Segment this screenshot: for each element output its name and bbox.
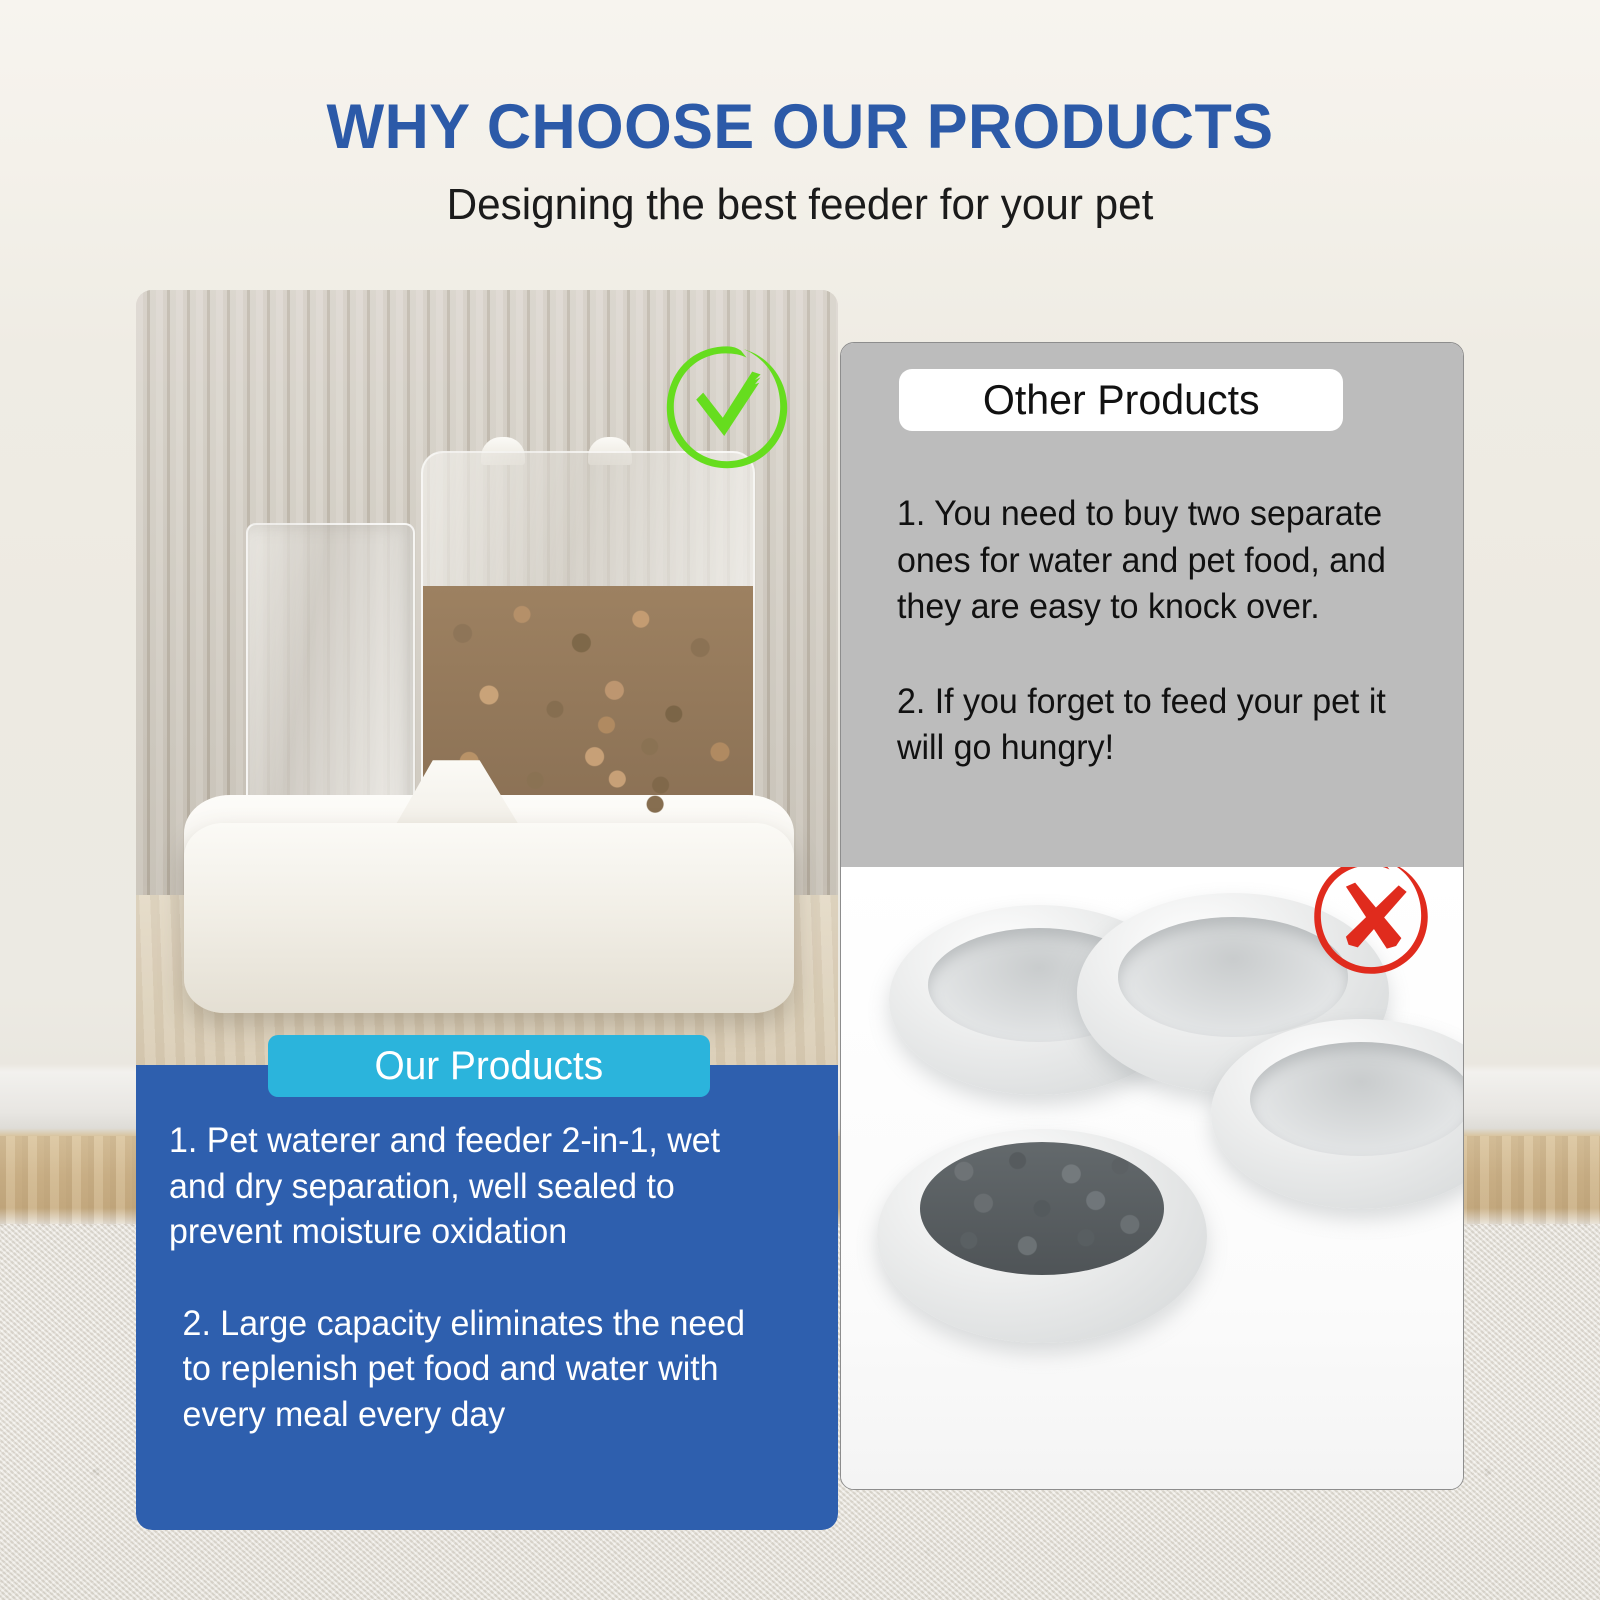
feeder-water-bottle	[246, 523, 415, 817]
other-products-bullet-2: 2. If you forget to feed your pet it wil…	[897, 679, 1429, 772]
our-products-badge: Our Products	[268, 1035, 710, 1097]
other-products-badge: Other Products	[899, 369, 1343, 431]
other-products-card: Other Products 1. You need to buy two se…	[840, 342, 1464, 1490]
our-product-photo	[136, 290, 838, 1065]
other-products-badge-label: Other Products	[983, 379, 1260, 421]
our-products-badge-label: Our Products	[375, 1046, 604, 1086]
gray-kibble-fill	[920, 1142, 1164, 1275]
feeder-base	[184, 823, 794, 1013]
other-product-photo	[841, 867, 1463, 1489]
green-check-circle-icon	[657, 338, 797, 478]
our-products-bullet-1: 1. Pet waterer and feeder 2-in-1, wet an…	[169, 1118, 778, 1255]
other-products-text-panel: Other Products 1. You need to buy two se…	[841, 343, 1463, 867]
our-products-bullets: 1. Pet waterer and feeder 2-in-1, wet an…	[136, 1118, 817, 1437]
header: WHY CHOOSE OUR PRODUCTS Designing the be…	[0, 0, 1600, 227]
our-products-bullet-2: 2. Large capacity eliminates the need to…	[169, 1301, 778, 1438]
other-products-bullets: 1. You need to buy two separate ones for…	[897, 491, 1429, 772]
pet-bowl-with-food	[877, 1129, 1207, 1343]
our-products-card: Our Products 1. Pet waterer and feeder 2…	[136, 290, 838, 1530]
page-title: WHY CHOOSE OUR PRODUCTS	[24, 96, 1576, 159]
page-subtitle: Designing the best feeder for your pet	[32, 183, 1568, 227]
red-cross-circle-icon	[1303, 867, 1439, 983]
bowl-rim	[1250, 1042, 1463, 1156]
other-products-bullet-1: 1. You need to buy two separate ones for…	[897, 491, 1429, 631]
infographic-page: WHY CHOOSE OUR PRODUCTS Designing the be…	[0, 0, 1600, 1600]
